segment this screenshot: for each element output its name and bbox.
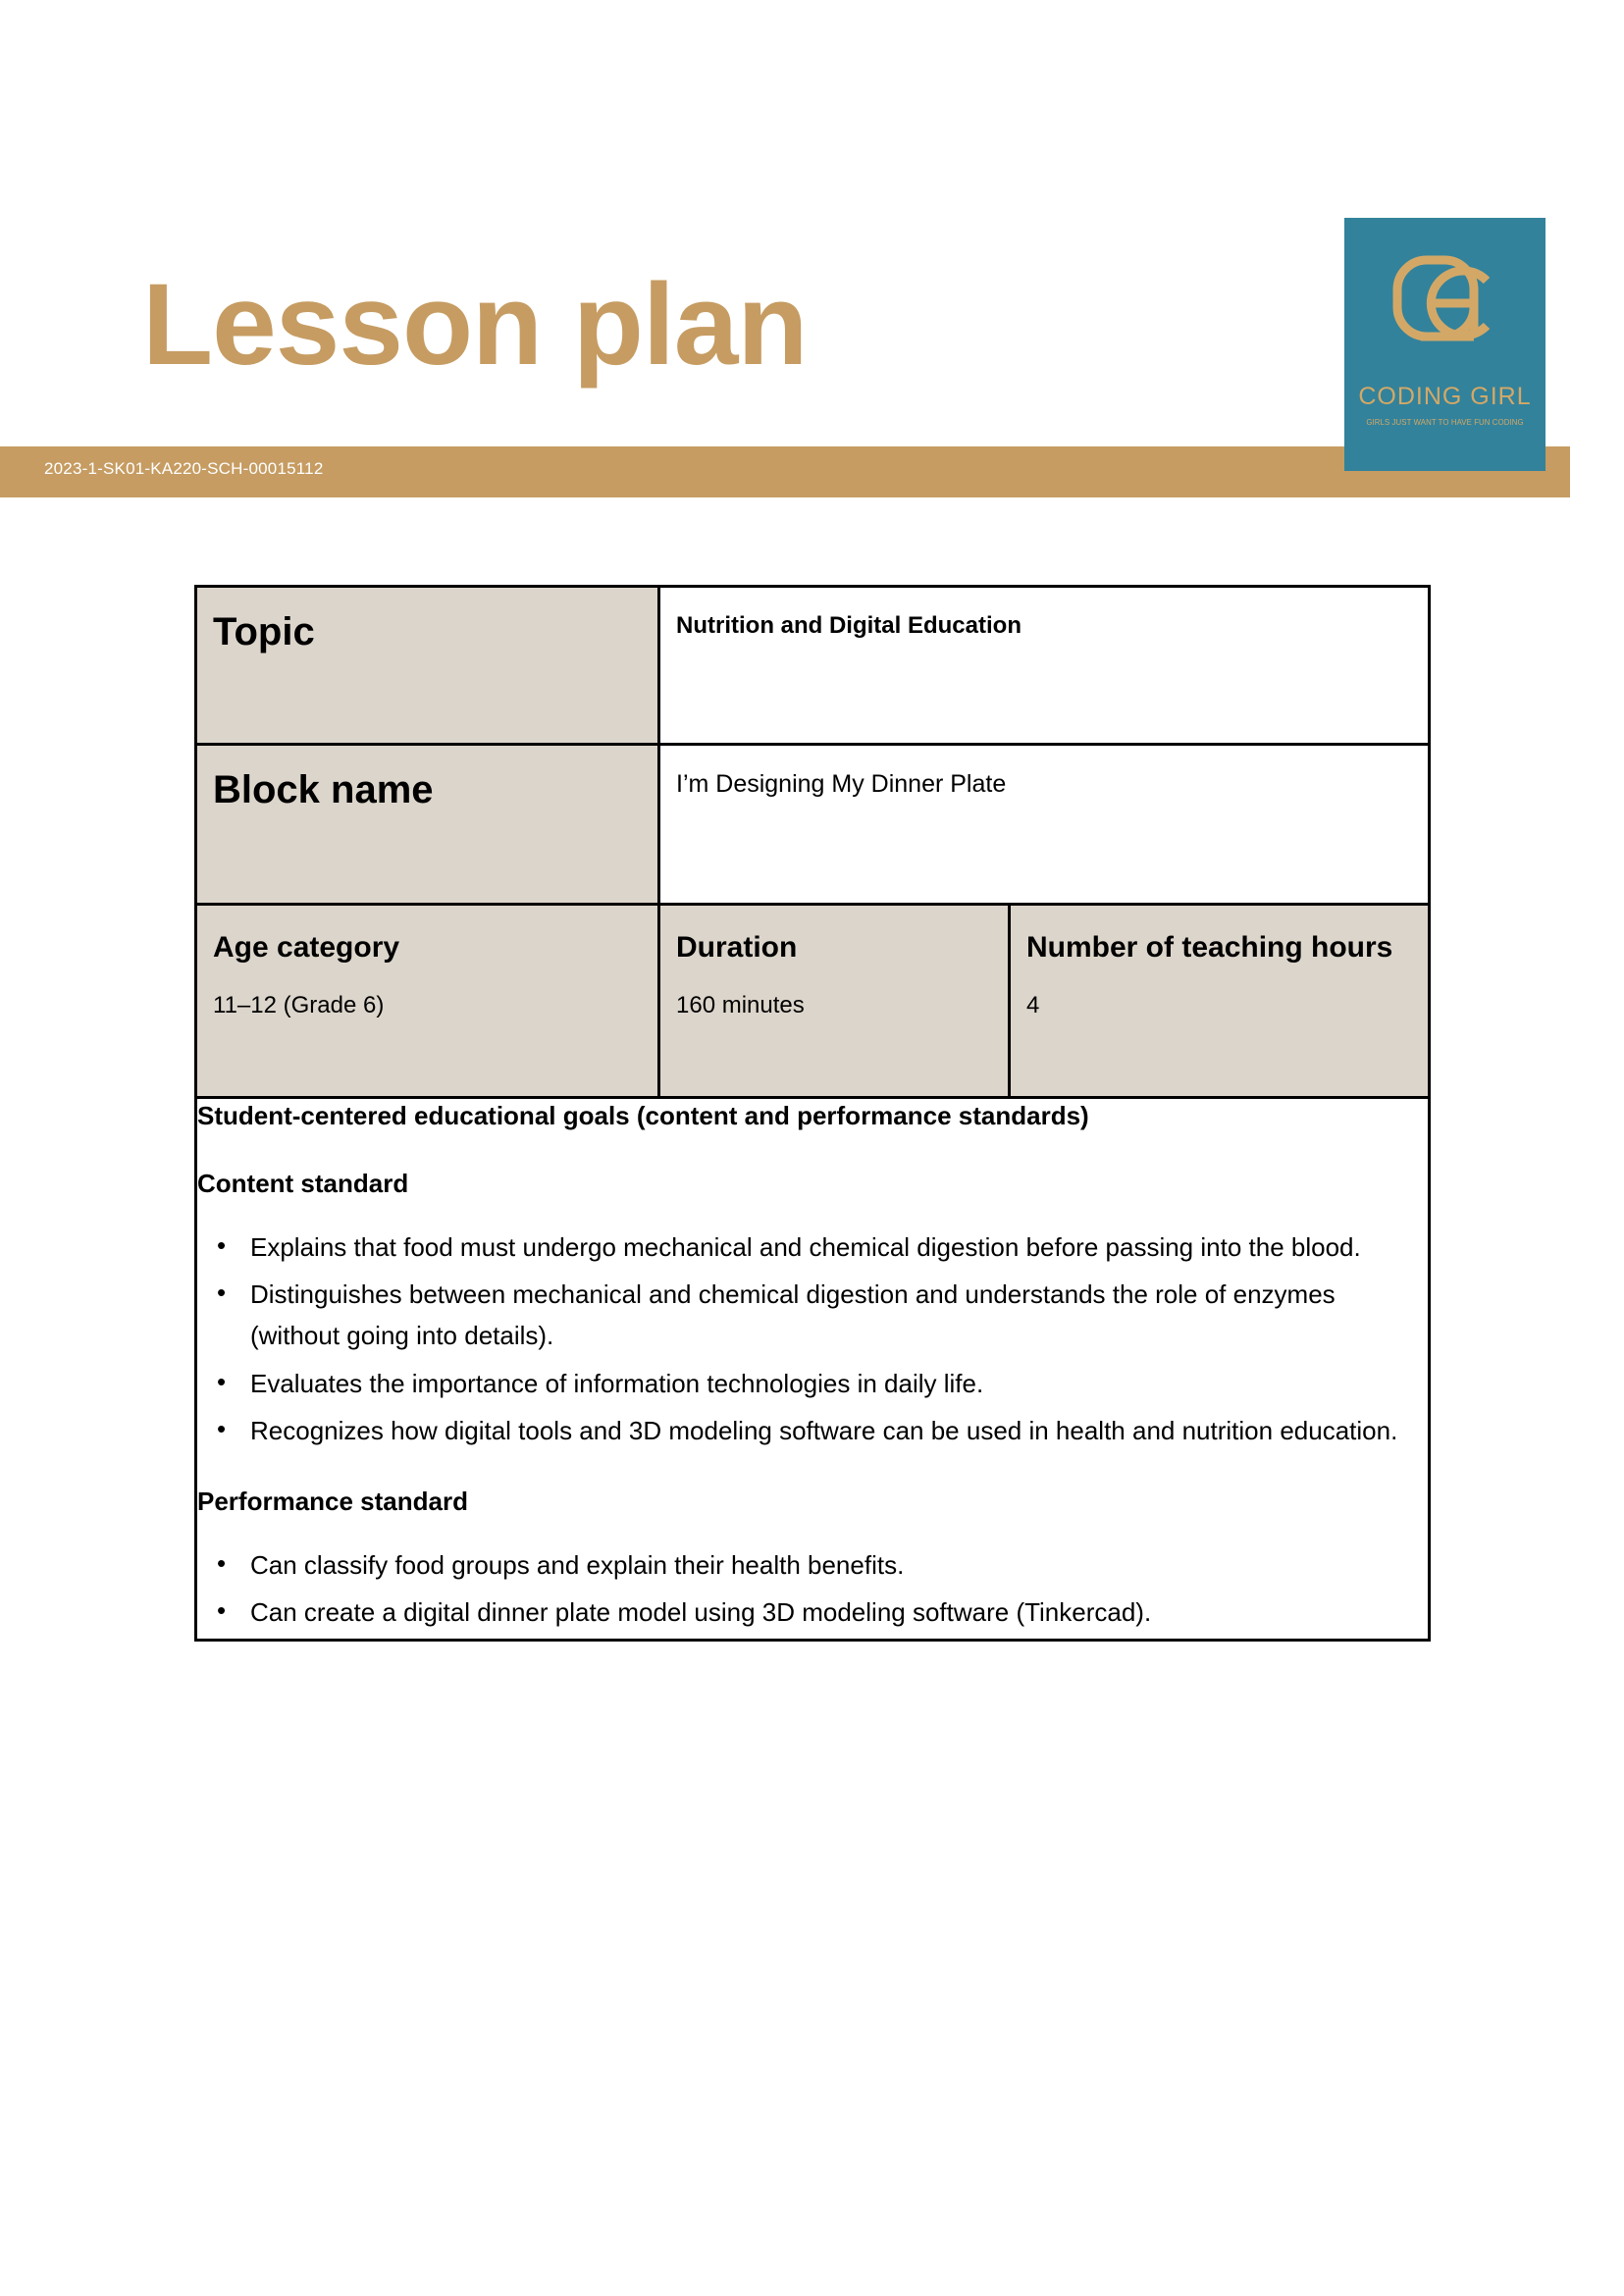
list-item: Evaluates the importance of information … [197, 1363, 1428, 1404]
duration-cell: Duration 160 minutes [659, 905, 1010, 1098]
table-row-topic: Topic Nutrition and Digital Education [196, 587, 1430, 745]
logo-tagline: GIRLS JUST WANT TO HAVE FUN CODING [1352, 417, 1538, 427]
list-item: Distinguishes between mechanical and che… [197, 1274, 1428, 1356]
block-name-label-cell: Block name [196, 745, 659, 905]
performance-standard-list: Can classify food groups and explain the… [197, 1544, 1428, 1633]
logo-name: CODING GIRL [1344, 383, 1545, 411]
performance-standard-label: Performance standard [197, 1485, 1428, 1519]
topic-label-cell: Topic [196, 587, 659, 745]
teaching-hours-label: Number of teaching hours [1026, 927, 1412, 967]
duration-label: Duration [676, 927, 992, 967]
table-row-goals: Student-centered educational goals (cont… [196, 1098, 1430, 1641]
list-item: Can create a digital dinner plate model … [197, 1592, 1428, 1633]
teaching-hours-value: 4 [1026, 989, 1412, 1023]
goals-title: Student-centered educational goals (cont… [197, 1099, 1428, 1133]
content-standard-label: Content standard [197, 1167, 1428, 1201]
teaching-hours-cell: Number of teaching hours 4 [1010, 905, 1430, 1098]
table-row-block-name: Block name I’m Designing My Dinner Plate [196, 745, 1430, 905]
topic-value: Nutrition and Digital Education [660, 588, 1428, 743]
block-name-value: I’m Designing My Dinner Plate [660, 746, 1428, 903]
topic-label: Topic [197, 588, 657, 743]
page-title: Lesson plan [142, 267, 807, 383]
age-category-cell: Age category 11–12 (Grade 6) [196, 905, 659, 1098]
table-row-meta: Age category 11–12 (Grade 6) Duration 16… [196, 905, 1430, 1098]
project-code: 2023-1-SK01-KA220-SCH-00015112 [44, 459, 323, 479]
duration-value: 160 minutes [676, 989, 992, 1023]
topic-value-cell: Nutrition and Digital Education [659, 587, 1430, 745]
lesson-info-table: Topic Nutrition and Digital Education Bl… [194, 585, 1431, 1642]
coding-girl-monogram-icon [1344, 230, 1545, 377]
list-item: Can classify food groups and explain the… [197, 1544, 1428, 1586]
block-name-label: Block name [197, 746, 657, 903]
list-item: Recognizes how digital tools and 3D mode… [197, 1410, 1428, 1451]
age-category-label: Age category [213, 927, 642, 967]
content-standard-list: Explains that food must undergo mechanic… [197, 1226, 1428, 1451]
block-name-value-cell: I’m Designing My Dinner Plate [659, 745, 1430, 905]
lesson-plan-page: Lesson plan 2023-1-SK01-KA220-SCH-000151… [0, 0, 1624, 2296]
coding-girl-logo: CODING GIRL GIRLS JUST WANT TO HAVE FUN … [1344, 218, 1545, 471]
goals-cell: Student-centered educational goals (cont… [196, 1098, 1430, 1641]
list-item: Explains that food must undergo mechanic… [197, 1226, 1428, 1268]
age-category-value: 11–12 (Grade 6) [213, 989, 642, 1023]
